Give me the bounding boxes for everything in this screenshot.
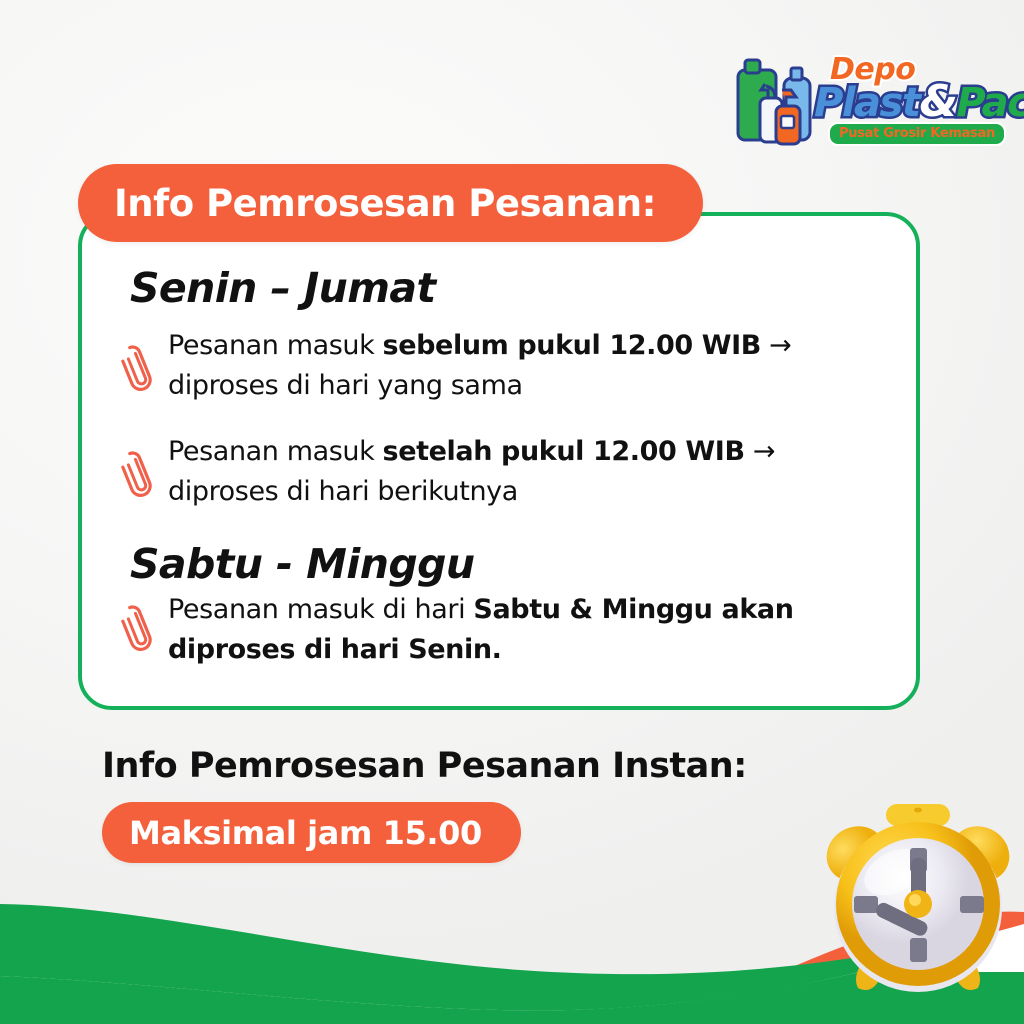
instant-order-badge: Maksimal jam 15.00 — [102, 802, 521, 863]
instant-order-badge-label: Maksimal jam 15.00 — [129, 814, 482, 852]
logo-main-text: Plast&Pack — [814, 76, 1024, 127]
section-heading-weekend: Sabtu - Minggu — [130, 540, 886, 588]
bullet-text: Pesanan masuk sebelum pukul 12.00 WIB → … — [168, 326, 868, 406]
paperclip-icon — [108, 326, 168, 396]
alarm-clock-icon — [812, 792, 1024, 1004]
logo-tagline: Pusat Grosir Kemasan — [828, 122, 1006, 146]
logo-wordmark: Depo Plast&Pack Pusat Grosir Kemasan — [816, 48, 992, 152]
bullet-weekend: Pesanan masuk di hari Sabtu & Minggu aka… — [108, 590, 886, 670]
info-card: Senin – Jumat Pesanan masuk sebelum puku… — [78, 212, 920, 710]
bullet-weekday-before-noon: Pesanan masuk sebelum pukul 12.00 WIB → … — [108, 326, 886, 406]
paperclip-icon — [108, 590, 168, 656]
logo-plast-text: Plast — [814, 80, 919, 126]
bullet-text: Pesanan masuk setelah pukul 12.00 WIB → … — [168, 432, 868, 512]
header-banner: Info Pemrosesan Pesanan: — [78, 164, 703, 242]
bullet-weekday-after-noon: Pesanan masuk setelah pukul 12.00 WIB → … — [108, 432, 886, 512]
bullet-text: Pesanan masuk di hari Sabtu & Minggu aka… — [168, 590, 868, 670]
logo-pack-text: Pack — [956, 80, 1024, 126]
plastic-bottles-icon — [734, 56, 822, 148]
section-heading-weekdays: Senin – Jumat — [130, 264, 886, 312]
instant-order-title: Info Pemrosesan Pesanan Instan: — [102, 746, 747, 786]
brand-logo: Depo Plast&Pack Pusat Grosir Kemasan — [730, 48, 992, 152]
header-title: Info Pemrosesan Pesanan: — [114, 182, 656, 225]
logo-ampersand: & — [919, 76, 956, 127]
paperclip-icon — [108, 432, 168, 502]
